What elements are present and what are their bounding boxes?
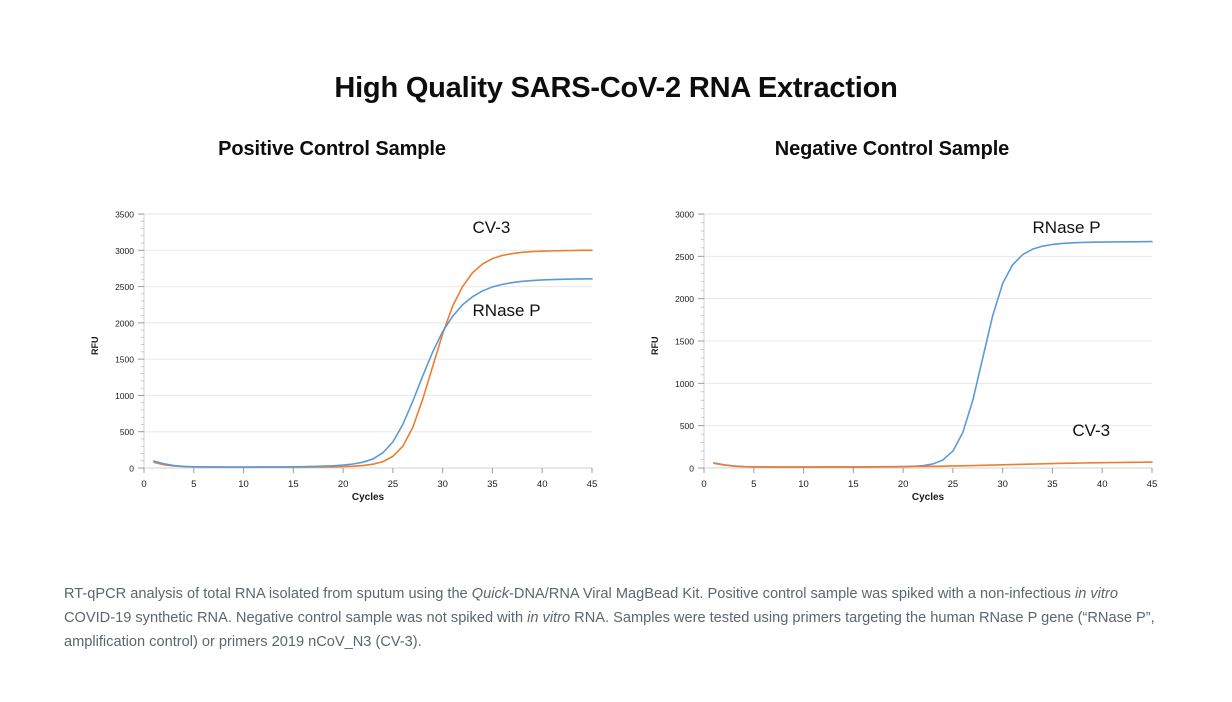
svg-text:1000: 1000 <box>115 391 134 401</box>
series-label-cv-3: CV-3 <box>1072 421 1110 441</box>
plot-area-positive: 0500100015002000250030003500051015202530… <box>52 200 612 520</box>
svg-text:500: 500 <box>120 427 134 437</box>
chart-svg-negative-control: 0500100015002000250030000510152025303540… <box>612 200 1172 520</box>
page-title: High Quality SARS-CoV-2 RNA Extraction <box>0 72 1232 105</box>
figure-caption: RT-qPCR analysis of total RNA isolated f… <box>64 582 1162 654</box>
svg-text:10: 10 <box>798 479 809 490</box>
series-label-rnase-p: RNase P <box>1033 218 1101 238</box>
svg-text:25: 25 <box>948 479 959 490</box>
y-axis-title-negative-control: RFU <box>650 337 660 356</box>
svg-text:30: 30 <box>437 479 448 490</box>
svg-text:35: 35 <box>487 479 498 490</box>
svg-text:3000: 3000 <box>115 246 134 256</box>
svg-text:1500: 1500 <box>675 337 694 347</box>
svg-text:25: 25 <box>388 479 399 490</box>
series-label-rnase-p: RNase P <box>473 301 541 321</box>
svg-text:35: 35 <box>1047 479 1058 490</box>
svg-text:1000: 1000 <box>675 379 694 389</box>
svg-text:2000: 2000 <box>675 294 694 304</box>
caption-seg-1: RT-qPCR analysis of total RNA isolated f… <box>64 586 472 602</box>
gridlines <box>144 214 592 432</box>
svg-text:40: 40 <box>1097 479 1108 490</box>
svg-text:2500: 2500 <box>115 282 134 292</box>
panel-title-positive: Positive Control Sample <box>52 138 612 161</box>
y-axis-ticks: 050010001500200025003000 <box>675 210 704 474</box>
svg-text:45: 45 <box>587 479 598 490</box>
svg-text:0: 0 <box>689 464 694 474</box>
plot-area-negative: 0500100015002000250030000510152025303540… <box>612 200 1172 520</box>
svg-text:40: 40 <box>537 479 548 490</box>
svg-text:45: 45 <box>1147 479 1158 490</box>
chart-panel-positive-control: Positive Control Sample 0500100015002000… <box>52 138 612 538</box>
svg-text:2000: 2000 <box>115 318 134 328</box>
chart-panel-negative-control: Negative Control Sample 0500100015002000… <box>612 138 1172 538</box>
svg-text:30: 30 <box>997 479 1008 490</box>
series-label-cv-3: CV-3 <box>473 218 511 238</box>
y-axis-ticks: 0500100015002000250030003500 <box>115 210 144 474</box>
svg-text:15: 15 <box>848 479 859 490</box>
panel-title-negative: Negative Control Sample <box>612 138 1172 161</box>
svg-text:15: 15 <box>288 479 299 490</box>
caption-seg-3: COVID-19 synthetic RNA. Negative control… <box>64 610 527 626</box>
svg-text:20: 20 <box>338 479 349 490</box>
caption-em-invitro-2: in vitro <box>527 610 570 626</box>
svg-text:0: 0 <box>141 479 146 490</box>
x-axis-title-positive-control: Cycles <box>144 492 592 503</box>
svg-text:20: 20 <box>898 479 909 490</box>
caption-em-invitro-1: in vitro <box>1075 586 1118 602</box>
x-axis-ticks: 051015202530354045 <box>701 468 1157 490</box>
svg-text:0: 0 <box>129 464 134 474</box>
x-axis-title-negative-control: Cycles <box>704 492 1152 503</box>
svg-text:5: 5 <box>751 479 756 490</box>
x-axis-ticks: 051015202530354045 <box>141 468 597 490</box>
svg-text:5: 5 <box>191 479 196 490</box>
svg-text:0: 0 <box>701 479 706 490</box>
svg-text:3000: 3000 <box>675 210 694 220</box>
gridlines <box>704 214 1152 426</box>
figure-root: High Quality SARS-CoV-2 RNA Extraction P… <box>0 0 1232 702</box>
y-axis-title-positive-control: RFU <box>90 337 100 356</box>
chart-svg-positive-control: 0500100015002000250030003500051015202530… <box>52 200 612 520</box>
caption-seg-2: -DNA/RNA Viral MagBead Kit. Positive con… <box>509 586 1075 602</box>
svg-text:500: 500 <box>680 421 694 431</box>
caption-em-quick: Quick <box>472 586 509 602</box>
svg-text:1500: 1500 <box>115 355 134 365</box>
svg-text:2500: 2500 <box>675 252 694 262</box>
svg-text:3500: 3500 <box>115 210 134 220</box>
svg-text:10: 10 <box>238 479 249 490</box>
